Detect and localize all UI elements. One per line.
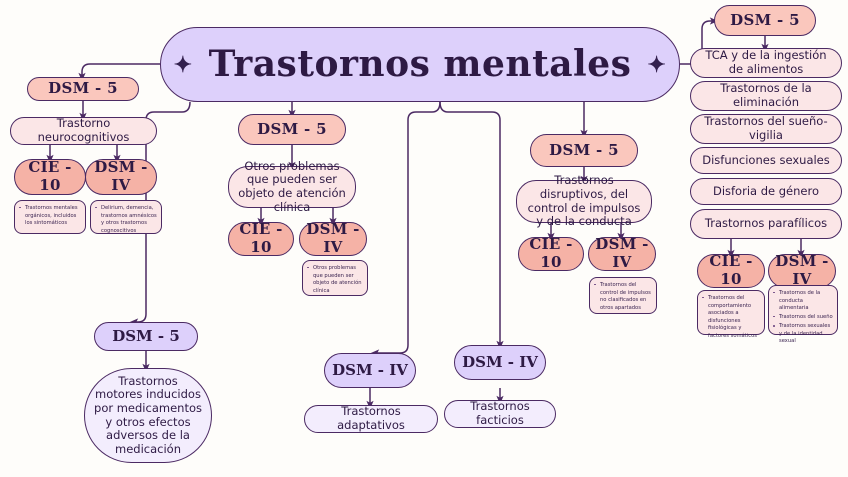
branch-alimentacion-topic-4[interactable]: Disforia de género xyxy=(690,178,842,205)
branch-adaptativos-dsm4[interactable]: DSM - IV xyxy=(324,353,416,388)
note-list: Otros problemas que pueden ser objeto de… xyxy=(306,265,363,295)
branch-otros-problemas-dsm4-notes: Otros problemas que pueden ser objeto de… xyxy=(302,260,368,296)
branch-disruptivos-dsm4-notes: Trastornos del control de impulsos no cl… xyxy=(589,277,657,314)
branch-alimentacion-cie10-notes: Trastornos del comportamiento asociados … xyxy=(697,290,765,335)
branch-neurocognitivos-topic[interactable]: Trastorno neurocognitivos xyxy=(10,117,157,145)
note-item: Trastornos del sueño xyxy=(779,314,833,322)
note-list: Trastornos mentales orgánicos, incluidos… xyxy=(18,205,81,228)
branch-neurocognitivos-cie10[interactable]: CIE - 10 xyxy=(14,159,86,195)
title-text: Trastornos mentales xyxy=(209,43,632,85)
branch-neurocognitivos-dsm4[interactable]: DSM - IV xyxy=(85,159,157,195)
branch-otros-problemas-topic[interactable]: Otros problemas que pueden ser objeto de… xyxy=(228,166,356,208)
note-item: Delirium, demencia, trastornos amnésicos… xyxy=(101,205,157,235)
branch-facticios-topic[interactable]: Trastornos facticios xyxy=(444,400,556,428)
branch-motores-topic[interactable]: Trastornos motores inducidos por medicam… xyxy=(84,368,212,463)
mindmap-canvas: ✦ Trastornos mentales ✦ DSM - 5 Trastorn… xyxy=(0,0,848,477)
branch-disruptivos-cie10[interactable]: CIE - 10 xyxy=(518,237,584,271)
note-item: Otros problemas que pueden ser objeto de… xyxy=(313,265,363,295)
page-title: ✦ Trastornos mentales ✦ xyxy=(160,27,680,102)
branch-adaptativos-topic[interactable]: Trastornos adaptativos xyxy=(304,405,438,433)
note-item: Trastornos del comportamiento asociados … xyxy=(708,295,760,340)
branch-neurocognitivos-cie10-notes: Trastornos mentales orgánicos, incluidos… xyxy=(14,200,86,234)
note-list: Trastornos del comportamiento asociados … xyxy=(701,295,760,340)
branch-alimentacion-topic-3[interactable]: Disfunciones sexuales xyxy=(690,147,842,174)
note-item: Trastornos de la conducta alimentaria xyxy=(779,290,833,313)
branch-alimentacion-topic-5[interactable]: Trastornos parafílicos xyxy=(690,209,842,239)
branch-neurocognitivos-dsm5[interactable]: DSM - 5 xyxy=(27,77,139,101)
branch-disruptivos-dsm4[interactable]: DSM - IV xyxy=(588,237,656,271)
branch-alimentacion-cie10[interactable]: CIE - 10 xyxy=(697,254,765,288)
branch-disruptivos-topic[interactable]: Trastornos disruptivos, del control de i… xyxy=(516,180,652,223)
branch-motores-dsm5[interactable]: DSM - 5 xyxy=(94,322,198,351)
branch-alimentacion-topic-0[interactable]: TCA y de la ingestión de alimentos xyxy=(690,48,842,78)
branch-disruptivos-dsm5[interactable]: DSM - 5 xyxy=(530,134,638,167)
branch-otros-problemas-cie10[interactable]: CIE - 10 xyxy=(228,222,294,256)
note-list: Delirium, demencia, trastornos amnésicos… xyxy=(94,205,157,235)
branch-neurocognitivos-dsm4-notes: Delirium, demencia, trastornos amnésicos… xyxy=(90,200,162,234)
branch-otros-problemas-dsm4[interactable]: DSM - IV xyxy=(299,222,367,256)
note-list: Trastornos de la conducta alimentaria Tr… xyxy=(772,290,833,346)
branch-otros-problemas-dsm5[interactable]: DSM - 5 xyxy=(238,114,346,145)
branch-facticios-dsm4[interactable]: DSM - IV xyxy=(454,345,546,380)
branch-alimentacion-topic-1[interactable]: Trastornos de la eliminación xyxy=(690,81,842,111)
note-item: Trastornos mentales orgánicos, incluidos… xyxy=(25,205,81,228)
sparkle-icon-right: ✦ xyxy=(647,54,666,76)
sparkle-icon-left: ✦ xyxy=(174,54,193,76)
branch-alimentacion-dsm4[interactable]: DSM - IV xyxy=(768,254,836,288)
note-list: Trastornos del control de impulsos no cl… xyxy=(593,282,652,312)
note-item: Trastornos sexuales y de la identidad se… xyxy=(779,323,833,346)
branch-alimentacion-dsm4-notes: Trastornos de la conducta alimentaria Tr… xyxy=(768,285,838,335)
note-item: Trastornos del control de impulsos no cl… xyxy=(600,282,652,312)
branch-alimentacion-dsm5[interactable]: DSM - 5 xyxy=(714,5,816,36)
branch-alimentacion-topic-2[interactable]: Trastornos del sueño-vigilia xyxy=(690,114,842,144)
